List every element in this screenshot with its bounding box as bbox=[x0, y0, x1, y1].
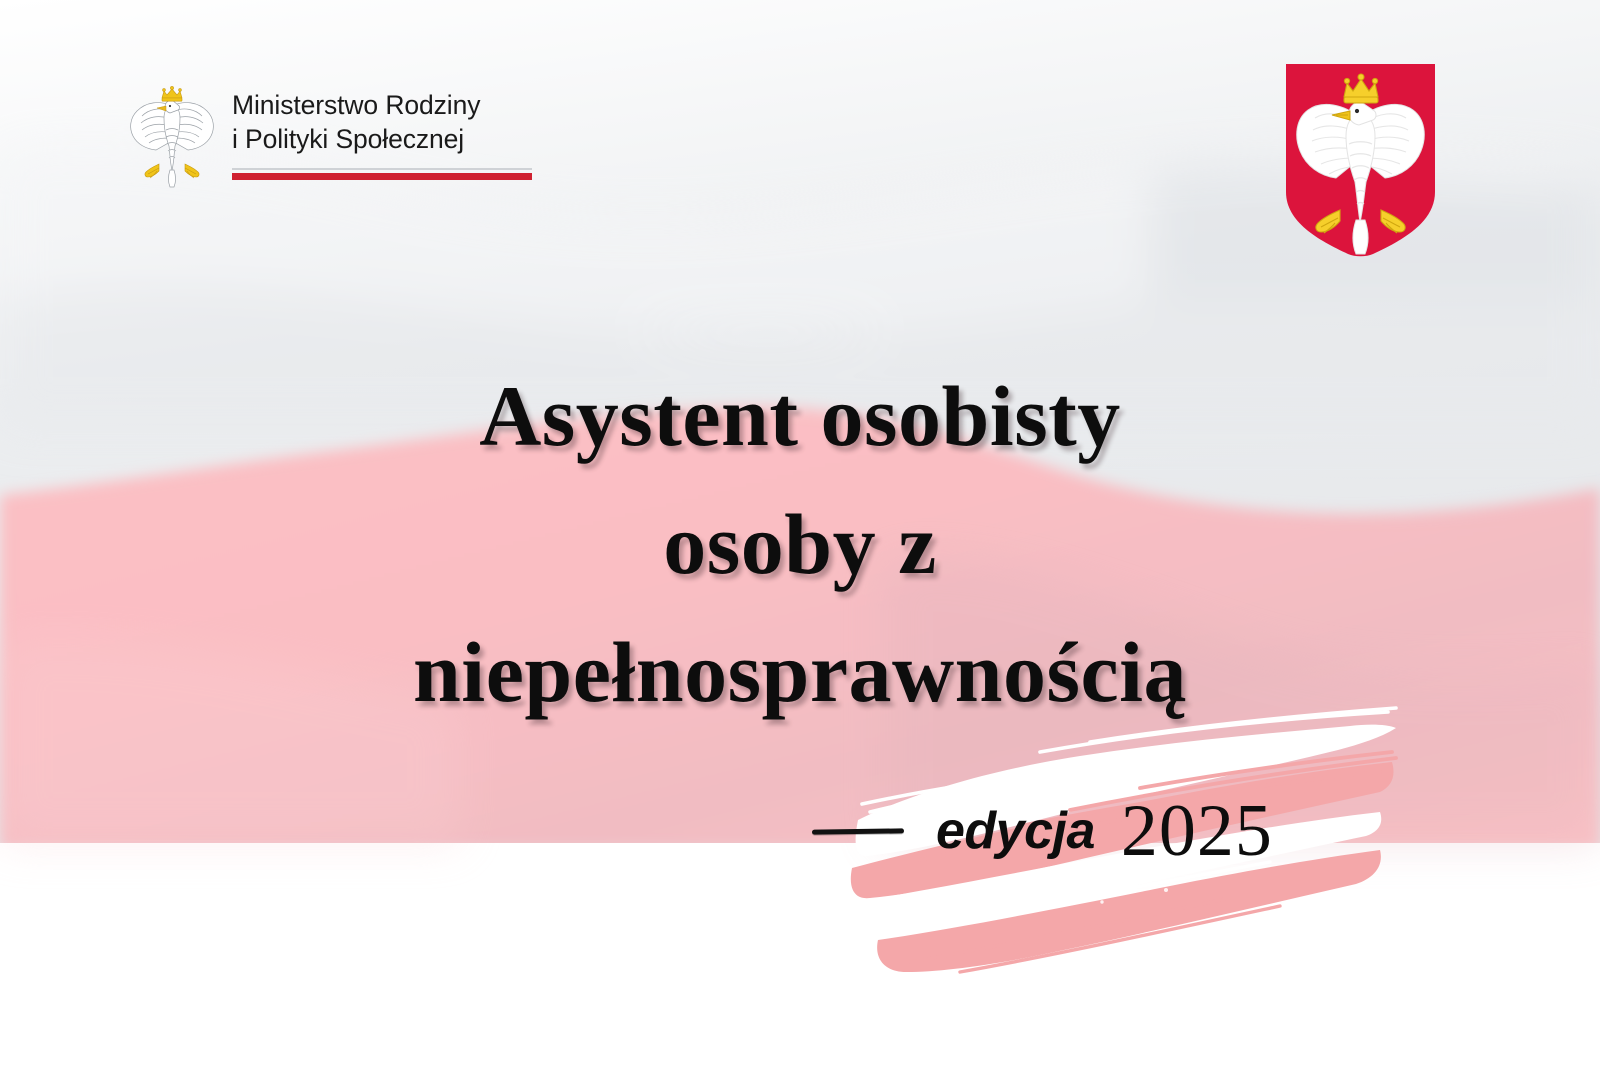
edition-block: edycja 2025 bbox=[812, 786, 1332, 876]
ministry-name-line2: i Polityki Społecznej bbox=[232, 122, 532, 156]
polish-coat-of-arms-icon bbox=[1278, 60, 1443, 260]
edition-year: 2025 bbox=[1121, 789, 1273, 874]
poster-canvas: Ministerstwo Rodziny i Polityki Społeczn… bbox=[0, 0, 1600, 1080]
ministry-name-block: Ministerstwo Rodziny i Polityki Społeczn… bbox=[232, 78, 532, 180]
ministry-name-line1: Ministerstwo Rodziny bbox=[232, 88, 532, 122]
title-line-3: niepełnosprawnością bbox=[0, 608, 1600, 736]
ministry-logo: Ministerstwo Rodziny i Polityki Społeczn… bbox=[126, 78, 532, 190]
edition-label: edycja bbox=[936, 801, 1095, 861]
title-line-2: osoby z bbox=[0, 480, 1600, 608]
edition-dash-mark bbox=[812, 828, 904, 834]
ministry-rule-red bbox=[232, 173, 532, 180]
page-title: Asystent osobisty osoby z niepełnosprawn… bbox=[0, 352, 1600, 736]
ministry-rule-grey bbox=[232, 168, 532, 170]
title-line-1: Asystent osobisty bbox=[0, 352, 1600, 480]
polish-eagle-emblem-icon bbox=[126, 78, 218, 190]
